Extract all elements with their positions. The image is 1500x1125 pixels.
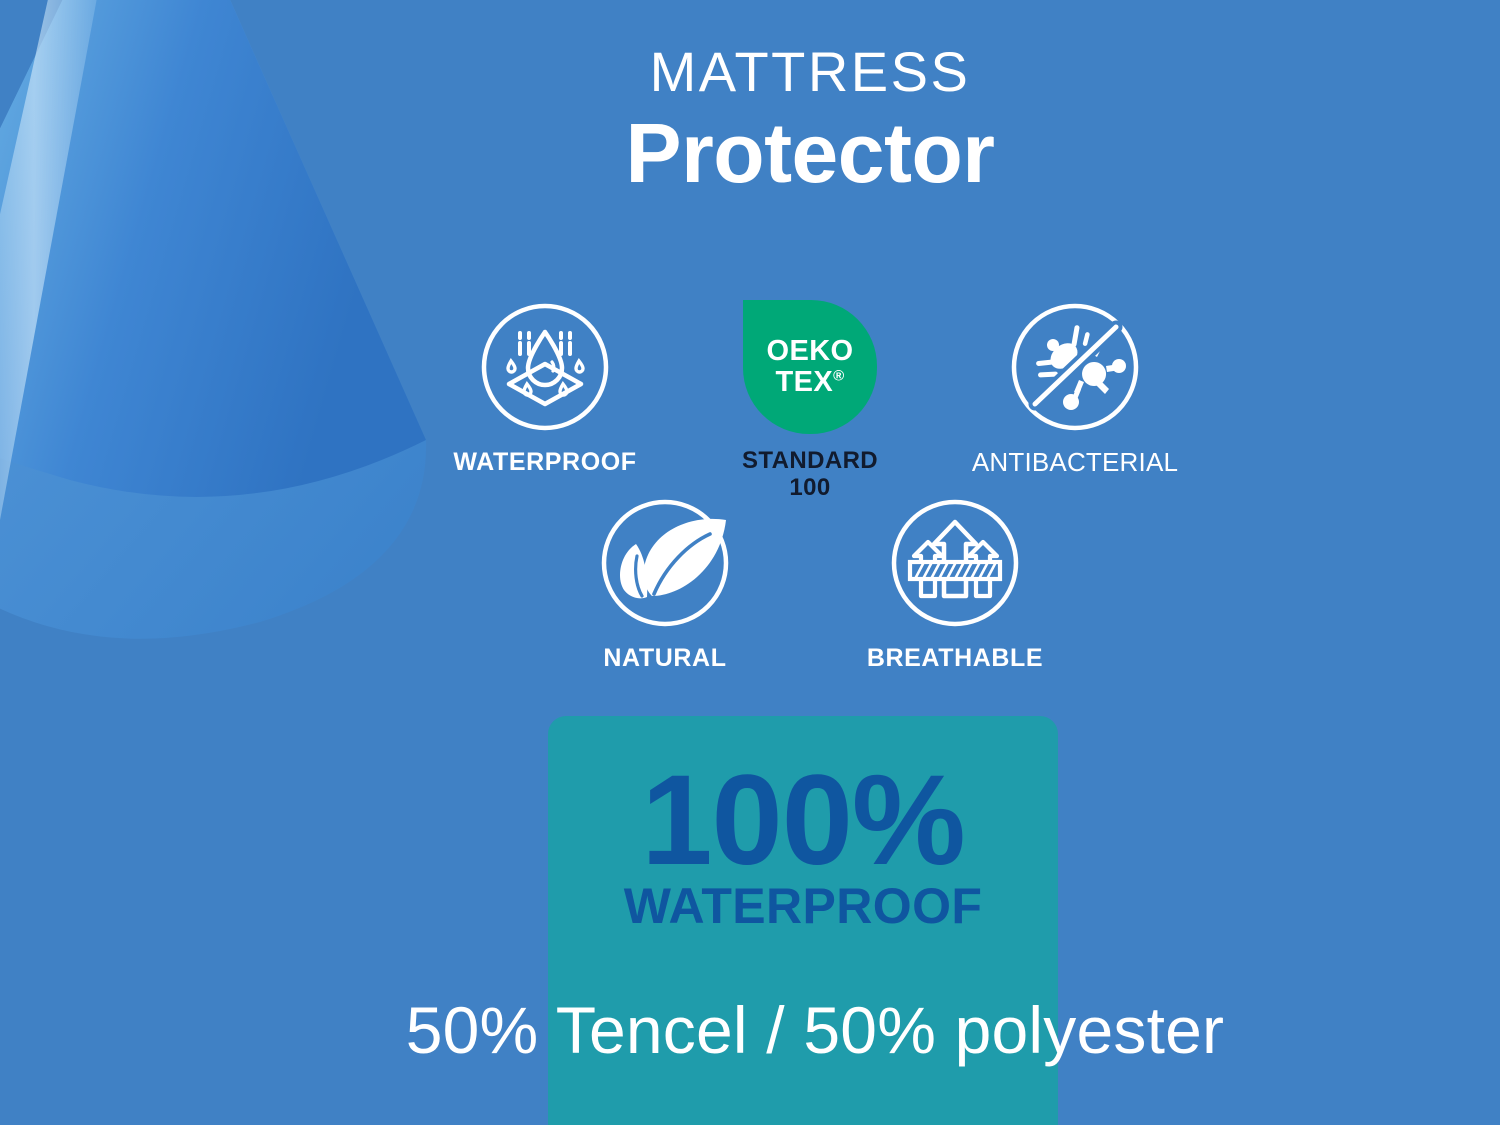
feature-label-waterproof: WATERPROOF bbox=[453, 448, 636, 476]
droplet-highlight bbox=[0, 0, 130, 520]
droplet-cone bbox=[0, 0, 426, 497]
feature-badges-row-2: NATURAL BREATHABLE bbox=[560, 496, 1060, 672]
feature-label-oeko-tex: STANDARD 100 bbox=[742, 448, 878, 502]
oeko-tex-wordmark: OEKO TEX® bbox=[767, 336, 854, 397]
antibacterial-icon bbox=[1008, 300, 1142, 434]
product-banner: MATTRESS Protector WATERPR bbox=[0, 0, 1500, 1125]
breathable-icon bbox=[888, 496, 1022, 630]
feature-natural: NATURAL bbox=[560, 496, 770, 672]
feature-antibacterial: ANTIBACTERIAL bbox=[970, 300, 1180, 477]
feature-label-antibacterial: ANTIBACTERIAL bbox=[972, 448, 1178, 477]
page-title: MATTRESS Protector bbox=[440, 44, 1180, 200]
feature-breathable: BREATHABLE bbox=[850, 496, 1060, 672]
oeko-tex-badge: OEKO TEX® bbox=[743, 300, 877, 434]
water-droplet-illustration bbox=[0, 0, 470, 680]
oeko-line-2: TEX bbox=[775, 366, 833, 398]
feature-oeko-tex: OEKO TEX® STANDARD 100 bbox=[705, 300, 915, 502]
registered-mark-icon: ® bbox=[833, 367, 844, 384]
feature-waterproof: WATERPROOF bbox=[440, 300, 650, 476]
waterproof-icon bbox=[478, 300, 612, 434]
feature-label-natural: NATURAL bbox=[603, 644, 726, 672]
oeko-line-1: OEKO bbox=[767, 335, 854, 367]
feature-badges-row-1: WATERPROOF OEKO TEX® STANDARD 100 bbox=[440, 300, 1180, 502]
title-eyebrow: MATTRESS bbox=[440, 44, 1180, 100]
leaf-icon bbox=[598, 496, 732, 630]
feature-label-breathable: BREATHABLE bbox=[867, 644, 1043, 672]
title-main: Protector bbox=[440, 106, 1180, 200]
oeko-standard-line: STANDARD bbox=[742, 447, 878, 474]
material-tagline: 50% Tencel / 50% polyester bbox=[250, 992, 1380, 1068]
stamp-caption: WATERPROOF bbox=[548, 881, 1058, 931]
droplet-body bbox=[0, 0, 426, 639]
waterproof-stamp: 100% WATERPROOF bbox=[548, 760, 1058, 931]
stamp-value: 100% bbox=[548, 760, 1058, 883]
